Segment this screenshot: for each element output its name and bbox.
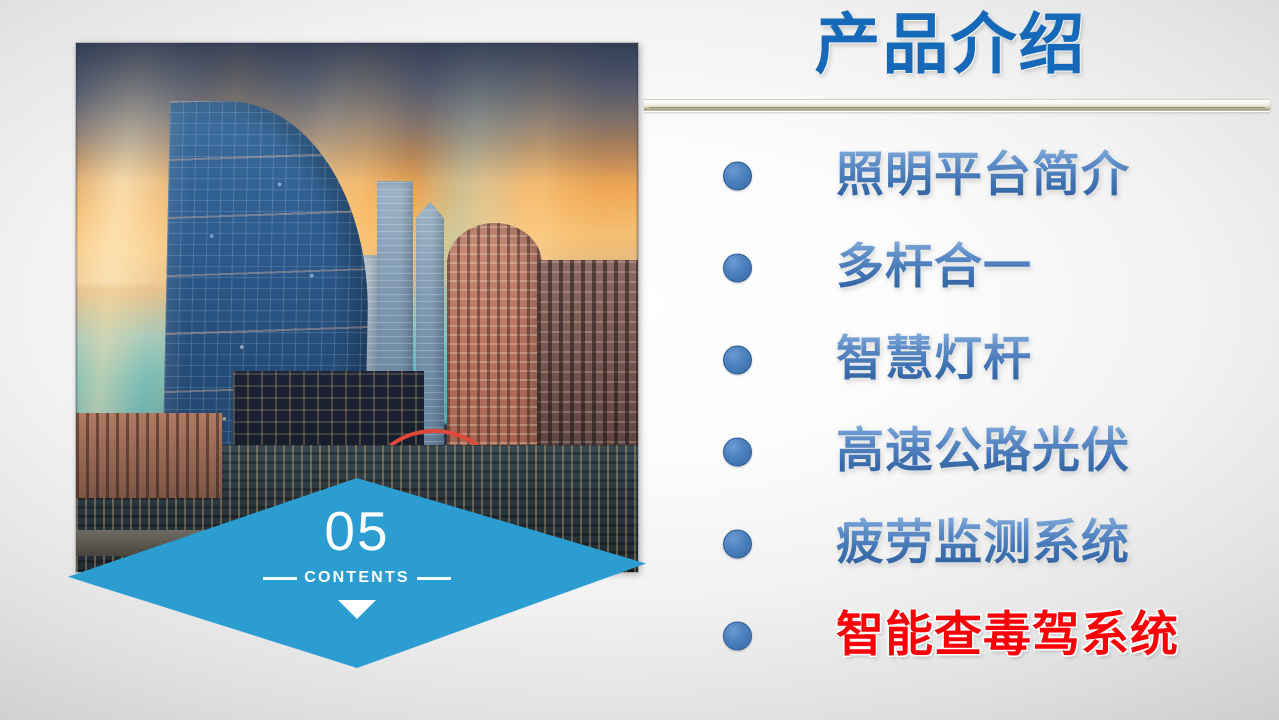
bullet-dot-icon bbox=[723, 346, 752, 375]
list-item-label: 智慧灯杆 bbox=[836, 334, 1032, 387]
list-item-label: 多杆合一 bbox=[836, 242, 1032, 295]
bullet-dot-icon bbox=[723, 438, 752, 467]
content-column: 产品介绍 照明平台简介 多杆合一 智慧灯杆 高速公路光伏 疲劳监测系统 bbox=[640, 0, 1279, 720]
presentation-slide: 05 CONTENTS 产品介绍 照明平台简介 多杆合一 智慧灯杆 bbox=[0, 0, 1279, 720]
agenda-list: 照明平台简介 多杆合一 智慧灯杆 高速公路光伏 疲劳监测系统 智能查毒驾系统 bbox=[640, 130, 1279, 682]
list-item[interactable]: 智能查毒驾系统 bbox=[640, 590, 1279, 682]
bullet-dot-icon bbox=[723, 622, 752, 651]
list-item[interactable]: 疲劳监测系统 bbox=[640, 498, 1279, 590]
list-item[interactable]: 多杆合一 bbox=[640, 222, 1279, 314]
list-item[interactable]: 照明平台简介 bbox=[640, 130, 1279, 222]
contents-label-row: CONTENTS bbox=[68, 570, 646, 586]
sky-top-shade bbox=[76, 43, 638, 181]
bullet-dot-icon bbox=[723, 530, 752, 559]
contents-label: CONTENTS bbox=[304, 570, 410, 586]
caret-down-icon bbox=[338, 600, 376, 619]
list-item-label: 照明平台简介 bbox=[836, 150, 1130, 203]
list-item[interactable]: 高速公路光伏 bbox=[640, 406, 1279, 498]
list-item-label: 智能查毒驾系统 bbox=[836, 610, 1179, 663]
contents-rule-right bbox=[417, 577, 451, 580]
list-item-label: 疲劳监测系统 bbox=[836, 518, 1130, 571]
title-divider bbox=[644, 99, 1270, 112]
contents-rule-left bbox=[263, 577, 297, 580]
list-item-label: 高速公路光伏 bbox=[836, 426, 1130, 479]
bullet-dot-icon bbox=[723, 254, 752, 283]
bullet-dot-icon bbox=[723, 162, 752, 191]
list-item[interactable]: 智慧灯杆 bbox=[640, 314, 1279, 406]
page-title: 产品介绍 bbox=[640, 6, 1261, 84]
foreground-brick-building bbox=[76, 413, 222, 498]
